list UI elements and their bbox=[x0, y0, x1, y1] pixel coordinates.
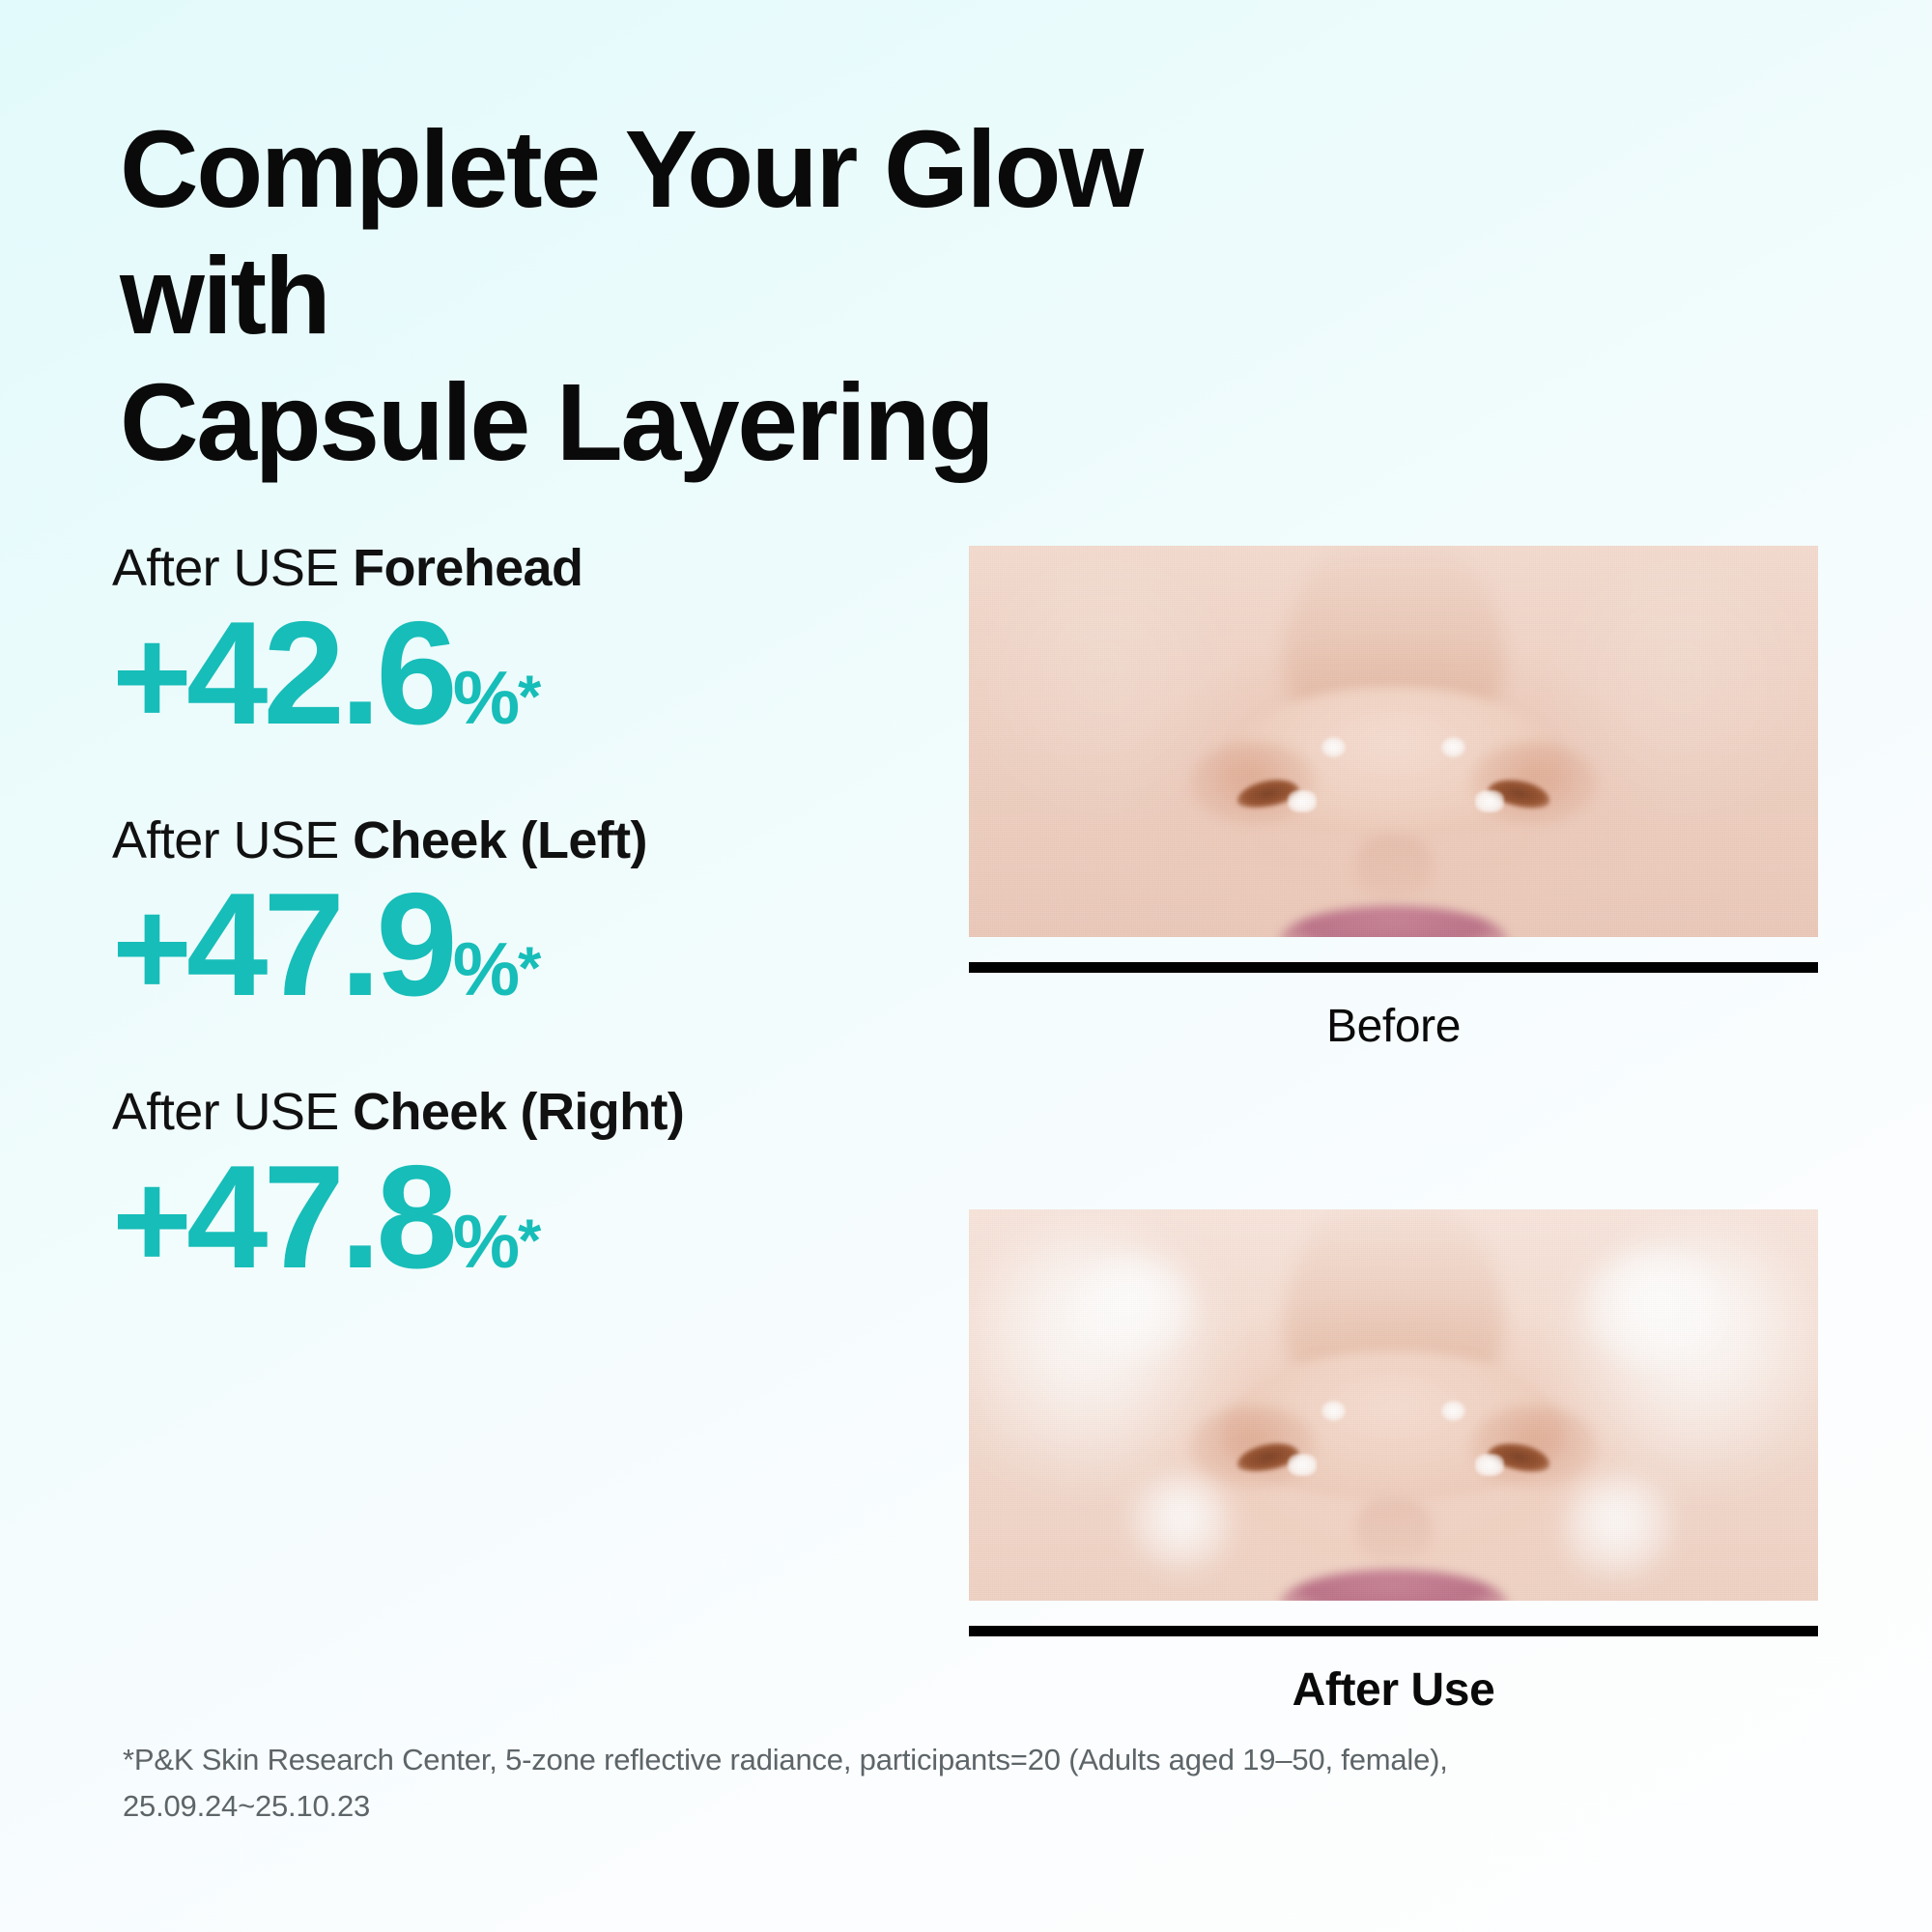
stat-value: +47.9%* bbox=[112, 873, 923, 1017]
stat-lead-text: After USE bbox=[112, 539, 353, 597]
stat-item-cheek-left: After USE Cheek (Left) +47.9%* bbox=[112, 813, 923, 1018]
after-photo bbox=[969, 1209, 1818, 1601]
infographic-canvas: Complete Your Glow with Capsule Layering… bbox=[0, 0, 1932, 1932]
photo-block-before: Before bbox=[969, 546, 1818, 1053]
photo-block-after: After Use bbox=[969, 1209, 1818, 1717]
stat-label: After USE Forehead bbox=[112, 541, 923, 596]
after-divider-rule bbox=[969, 1626, 1818, 1636]
stat-plus-sign: + bbox=[112, 600, 186, 753]
stat-zone-name: Cheek (Left) bbox=[353, 811, 647, 869]
stat-lead-text: After USE bbox=[112, 811, 353, 869]
stat-number: 47.8 bbox=[186, 1135, 453, 1299]
comparison-photos: Before bbox=[969, 546, 1818, 1717]
footnote-disclaimer: *P&K Skin Research Center, 5-zone reflec… bbox=[123, 1737, 1707, 1830]
stat-footnote-marker: * bbox=[518, 936, 541, 1003]
before-photo bbox=[969, 546, 1818, 937]
skin-texture-overlay bbox=[969, 1209, 1818, 1601]
stat-item-forehead: After USE Forehead +42.6%* bbox=[112, 541, 923, 746]
skin-texture-overlay bbox=[969, 546, 1818, 937]
stat-label: After USE Cheek (Right) bbox=[112, 1085, 923, 1140]
stat-percent-symbol: % bbox=[453, 1199, 518, 1284]
stat-number: 42.6 bbox=[186, 591, 453, 755]
stat-zone-name: Forehead bbox=[353, 539, 582, 597]
stat-item-cheek-right: After USE Cheek (Right) +47.8%* bbox=[112, 1085, 923, 1290]
stat-percent-symbol: % bbox=[453, 926, 518, 1011]
page-title: Complete Your Glow with Capsule Layering bbox=[120, 106, 1298, 486]
stat-value: +47.8%* bbox=[112, 1146, 923, 1290]
stat-value: +42.6%* bbox=[112, 602, 923, 746]
before-caption: Before bbox=[969, 1000, 1818, 1053]
stat-number: 47.9 bbox=[186, 863, 453, 1027]
stat-plus-sign: + bbox=[112, 871, 186, 1025]
after-caption: After Use bbox=[969, 1663, 1818, 1717]
stat-zone-name: Cheek (Right) bbox=[353, 1083, 684, 1141]
stat-label: After USE Cheek (Left) bbox=[112, 813, 923, 868]
stat-lead-text: After USE bbox=[112, 1083, 353, 1141]
stat-percent-symbol: % bbox=[453, 655, 518, 740]
before-divider-rule bbox=[969, 962, 1818, 973]
stat-footnote-marker: * bbox=[518, 664, 541, 730]
stat-plus-sign: + bbox=[112, 1144, 186, 1297]
stat-list: After USE Forehead +42.6%* After USE Che… bbox=[112, 541, 923, 1290]
stat-footnote-marker: * bbox=[518, 1208, 541, 1275]
